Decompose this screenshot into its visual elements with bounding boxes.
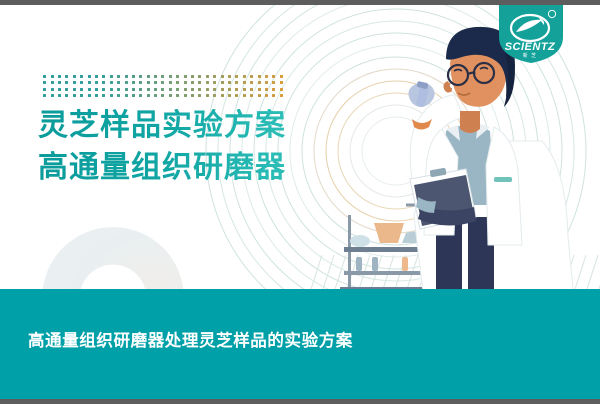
dot <box>176 75 179 78</box>
dot <box>184 94 187 97</box>
dot <box>95 94 98 97</box>
dot <box>235 94 238 97</box>
dot <box>88 75 91 78</box>
dot <box>80 81 83 84</box>
dot <box>88 88 91 91</box>
svg-text:SCIENTZ: SCIENTZ <box>505 41 556 53</box>
dot <box>280 88 283 91</box>
dot <box>154 94 157 97</box>
dot <box>228 81 231 84</box>
dot <box>132 88 135 91</box>
dot <box>102 88 105 91</box>
dot <box>117 88 120 91</box>
dot <box>125 88 128 91</box>
dot <box>110 94 113 97</box>
caption-text: 高通量组织研磨器处理灵芝样品的实验方案 <box>28 327 353 351</box>
dot <box>228 88 231 91</box>
dot <box>88 94 91 97</box>
dot <box>58 94 61 97</box>
dot <box>250 94 253 97</box>
dot <box>51 94 54 97</box>
headline-line-1: 灵芝样品实验方案 <box>38 109 368 143</box>
dot <box>206 94 209 97</box>
dot <box>102 81 105 84</box>
dot <box>243 75 246 78</box>
dot <box>102 75 105 78</box>
dot <box>206 75 209 78</box>
dot <box>73 75 76 78</box>
dot <box>272 81 275 84</box>
promo-banner: 灵芝样品实验方案 高通量组织研磨器 <box>0 0 600 404</box>
dot <box>161 88 164 91</box>
dot <box>258 94 261 97</box>
dot <box>280 75 283 78</box>
dot <box>198 81 201 84</box>
dot <box>184 81 187 84</box>
dot <box>221 81 224 84</box>
dot <box>221 94 224 97</box>
dot <box>73 88 76 91</box>
dot <box>228 75 231 78</box>
dot <box>73 94 76 97</box>
brand-logo: SCIENTZ 新 芝 <box>499 5 563 63</box>
dot <box>43 94 46 97</box>
dot <box>125 75 128 78</box>
dot <box>250 81 253 84</box>
dot <box>58 75 61 78</box>
dot <box>265 81 268 84</box>
dot <box>117 75 120 78</box>
dot <box>132 75 135 78</box>
dot <box>280 94 283 97</box>
dot <box>169 81 172 84</box>
dot <box>176 94 179 97</box>
dot <box>139 75 142 78</box>
dot <box>139 94 142 97</box>
dot <box>88 81 91 84</box>
dot <box>161 75 164 78</box>
dot <box>95 81 98 84</box>
dot <box>221 88 224 91</box>
dot <box>51 81 54 84</box>
dot <box>43 75 46 78</box>
dot <box>117 81 120 84</box>
dot <box>80 75 83 78</box>
dot <box>258 81 261 84</box>
dot <box>80 88 83 91</box>
dot <box>206 81 209 84</box>
dot <box>235 75 238 78</box>
dot <box>51 88 54 91</box>
dot <box>191 81 194 84</box>
dot <box>169 75 172 78</box>
dot <box>169 88 172 91</box>
dot <box>272 75 275 78</box>
dot <box>132 81 135 84</box>
dot <box>80 94 83 97</box>
dot <box>235 88 238 91</box>
dot <box>213 94 216 97</box>
dot <box>235 81 238 84</box>
dot <box>65 88 68 91</box>
dot <box>154 81 157 84</box>
dot <box>154 88 157 91</box>
dot <box>147 75 150 78</box>
dot <box>176 88 179 91</box>
dot <box>191 94 194 97</box>
headline-line-2: 高通量组织研磨器 <box>38 151 368 185</box>
dot <box>265 94 268 97</box>
dot <box>258 88 261 91</box>
dot <box>184 88 187 91</box>
dot <box>110 81 113 84</box>
dot <box>265 75 268 78</box>
dot <box>147 81 150 84</box>
dot <box>43 81 46 84</box>
dot <box>221 75 224 78</box>
dot <box>161 81 164 84</box>
dot <box>280 81 283 84</box>
dot <box>125 94 128 97</box>
dot <box>243 94 246 97</box>
dot <box>184 75 187 78</box>
dot <box>95 88 98 91</box>
dot <box>198 88 201 91</box>
dot <box>65 94 68 97</box>
dot <box>139 81 142 84</box>
dot <box>154 75 157 78</box>
dot <box>213 88 216 91</box>
dot <box>250 88 253 91</box>
svg-text:新 芝: 新 芝 <box>523 52 537 59</box>
dot <box>198 94 201 97</box>
dot-matrix-decoration <box>41 73 285 99</box>
dot <box>243 81 246 84</box>
dot <box>73 81 76 84</box>
dot <box>117 94 120 97</box>
dot <box>43 88 46 91</box>
dot <box>213 75 216 78</box>
dot <box>132 94 135 97</box>
dot <box>65 81 68 84</box>
dot <box>95 75 98 78</box>
dot <box>191 88 194 91</box>
dot <box>243 88 246 91</box>
dot <box>272 94 275 97</box>
dot <box>58 88 61 91</box>
dot <box>51 75 54 78</box>
dot <box>169 94 172 97</box>
dot <box>58 81 61 84</box>
dot <box>147 88 150 91</box>
dot <box>206 88 209 91</box>
dot <box>110 88 113 91</box>
dot <box>102 94 105 97</box>
dot <box>147 94 150 97</box>
dot <box>191 75 194 78</box>
dot <box>125 81 128 84</box>
dot <box>272 88 275 91</box>
dot <box>161 94 164 97</box>
dot <box>65 75 68 78</box>
page-title: 灵芝样品实验方案 高通量组织研磨器 <box>38 109 368 185</box>
dot <box>228 94 231 97</box>
dot <box>198 75 201 78</box>
dot <box>110 75 113 78</box>
dot <box>250 75 253 78</box>
dot <box>265 88 268 91</box>
caption-band: 高通量组织研磨器处理灵芝样品的实验方案 <box>0 289 600 399</box>
dot <box>176 81 179 84</box>
dot <box>213 81 216 84</box>
dot <box>258 75 261 78</box>
dot <box>139 88 142 91</box>
